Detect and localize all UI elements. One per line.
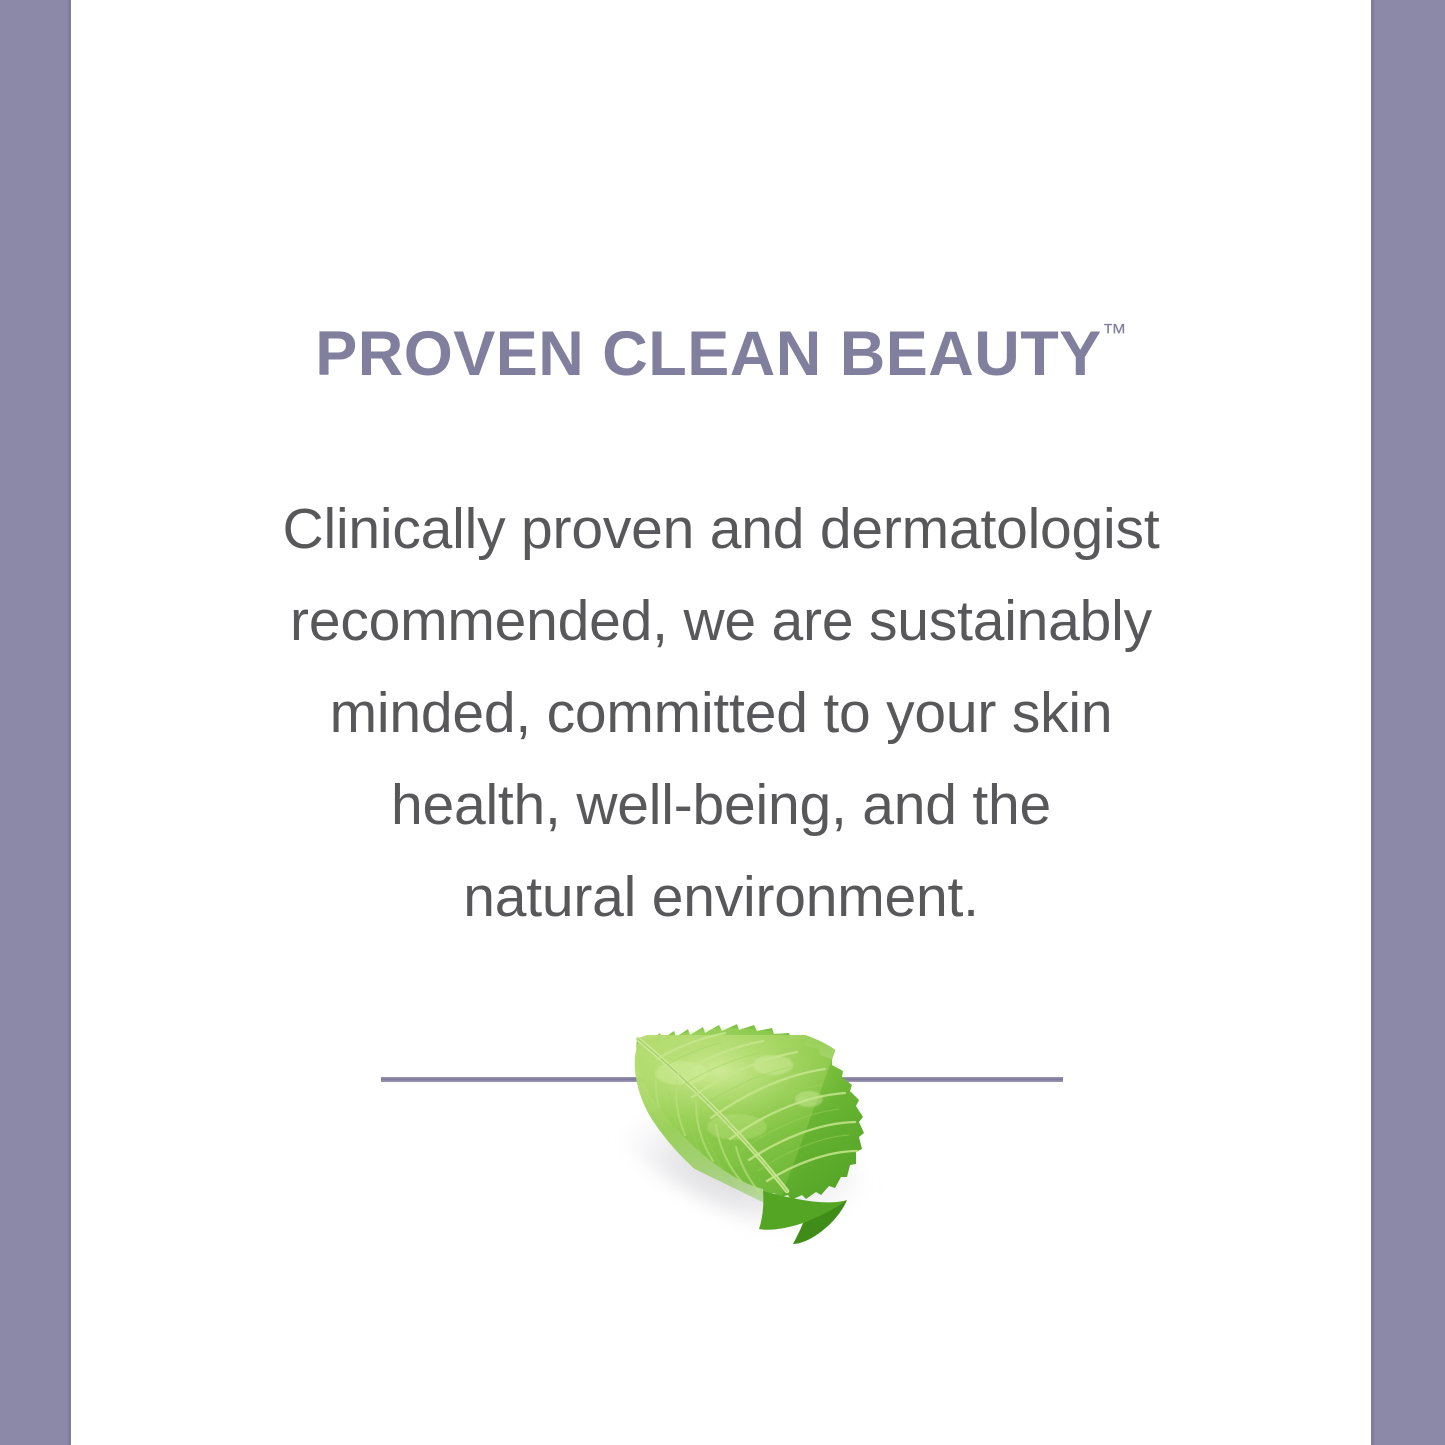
divider-line bbox=[381, 1077, 1063, 1082]
heading-container: PROVEN CLEAN BEAUTY™ bbox=[71, 323, 1371, 386]
right-band-edge bbox=[1371, 0, 1374, 1445]
right-accent-band bbox=[1372, 0, 1445, 1445]
body-line: recommended, we are sustainably bbox=[71, 575, 1371, 667]
leaf-shadow bbox=[604, 1092, 880, 1241]
trademark-symbol: ™ bbox=[1102, 319, 1127, 347]
promo-card: PROVEN CLEAN BEAUTY™ Clinically proven a… bbox=[0, 0, 1445, 1445]
leaf-icon bbox=[541, 995, 941, 1255]
content-area: PROVEN CLEAN BEAUTY™ Clinically proven a… bbox=[71, 0, 1371, 1445]
leaf-blade bbox=[611, 1024, 864, 1244]
body-copy: Clinically proven and dermatologist reco… bbox=[71, 483, 1371, 943]
body-line: Clinically proven and dermatologist bbox=[71, 483, 1371, 575]
body-line: minded, committed to your skin bbox=[71, 667, 1371, 759]
left-accent-band bbox=[0, 0, 70, 1445]
page-title: PROVEN CLEAN BEAUTY™ bbox=[315, 323, 1127, 386]
page-title-text: PROVEN CLEAN BEAUTY bbox=[315, 319, 1102, 389]
body-line: health, well-being, and the bbox=[71, 759, 1371, 851]
body-line: natural environment. bbox=[71, 851, 1371, 943]
